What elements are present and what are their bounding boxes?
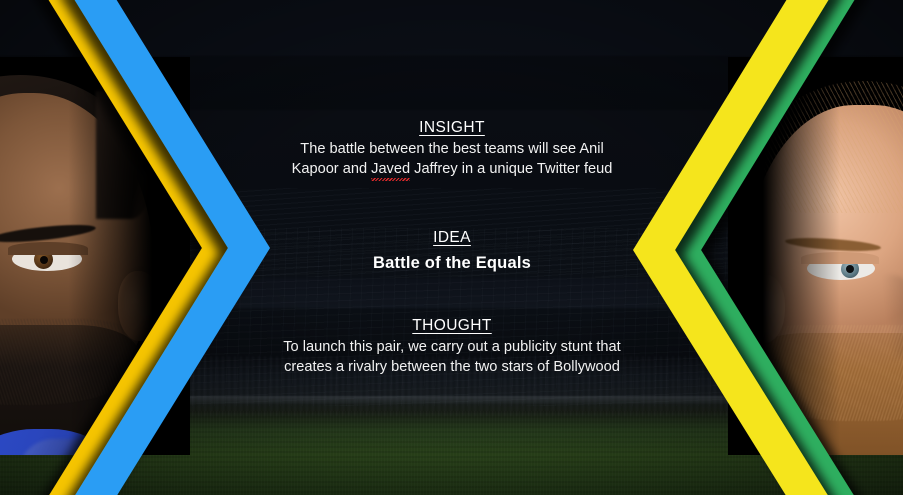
left-player-portrait [0,57,190,455]
right-player-ear [743,275,785,343]
left-player-pupil [40,256,48,264]
right-player-eyelid [801,252,879,264]
idea-title: Battle of the Equals [252,251,652,275]
left-player-eyelid [8,242,88,255]
right-player-portrait [728,57,903,455]
insight-line-1: The battle between the best teams will s… [252,140,652,160]
idea-block: IDEA Battle of the Equals [252,228,652,275]
thought-line-2: creates a rivalry between the two stars … [252,358,652,378]
thought-block: THOUGHT To launch this pair, we carry ou… [252,316,652,377]
insight-line-2-suffix: Jaffrey in a unique Twitter feud [410,161,612,177]
insight-line-2-prefix: Kapoor and [292,161,372,177]
right-player-pupil [846,265,854,273]
slide-text-column: INSIGHT The battle between the best team… [252,0,652,495]
insight-block: INSIGHT The battle between the best team… [252,118,652,179]
thought-label: THOUGHT [252,316,652,335]
thought-line-1: To launch this pair, we carry out a publ… [252,338,652,358]
left-player-nose-shadow [118,265,182,357]
insight-line-2: Kapoor and Javed Jaffrey in a unique Twi… [252,160,652,180]
idea-label: IDEA [252,228,652,247]
left-player-hairline [96,91,154,219]
presentation-slide: INSIGHT The battle between the best team… [0,0,903,495]
spellcheck-misspelled-word[interactable]: Javed [371,160,410,180]
right-player-hair-texture [751,81,903,213]
insight-label: INSIGHT [252,118,652,137]
